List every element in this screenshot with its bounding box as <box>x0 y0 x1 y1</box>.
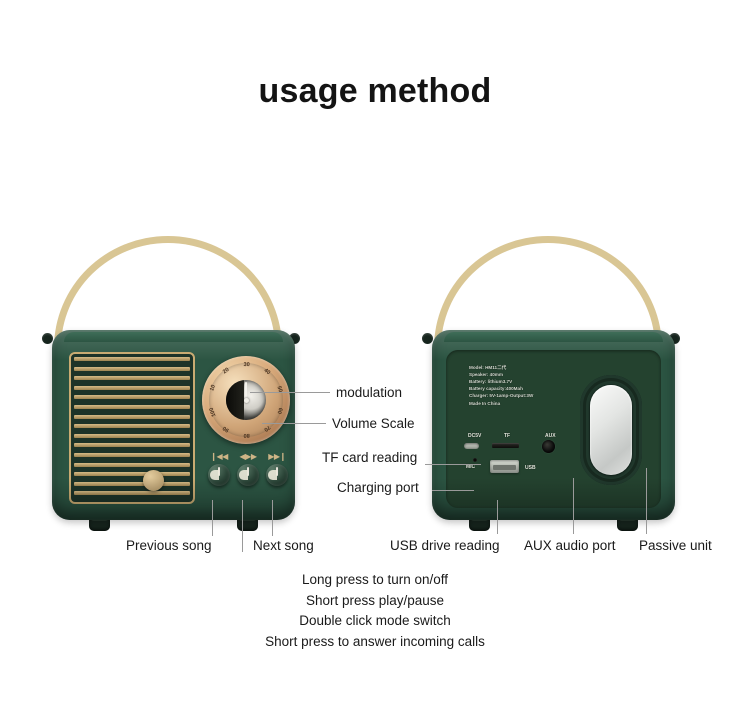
top-bevel <box>64 332 283 342</box>
page-title: usage method <box>0 72 750 111</box>
callout-tf-card-reading: TF card reading <box>322 450 417 465</box>
next-song-knob[interactable] <box>266 464 288 486</box>
play-pause-knob[interactable] <box>237 464 259 486</box>
callout-modulation: modulation <box>336 385 402 400</box>
dial-tick-70: 70 <box>263 424 272 433</box>
dial-center-cap <box>244 398 249 403</box>
lead-line-center-button <box>242 500 243 552</box>
dial-tick-100: 100 <box>209 407 218 418</box>
grille-slat <box>74 395 190 399</box>
grille-slat <box>74 367 190 371</box>
grille-slat <box>74 434 190 438</box>
grille-slat <box>74 443 190 447</box>
callout-next-song: Next song <box>253 538 314 553</box>
spec-line-capacity: Battery capacity:400Mah <box>469 385 533 392</box>
microphone-hole <box>473 458 477 462</box>
play-pause-mode-icon: ◀▶▶ <box>234 452 262 462</box>
top-bevel-back <box>444 332 663 342</box>
lead-line-usb-drive <box>497 500 498 534</box>
grille-slat <box>74 376 190 380</box>
grille-slat <box>74 405 190 409</box>
lead-line-volume-scale <box>262 423 326 424</box>
usb-label: USB <box>525 465 536 471</box>
spec-line-battery: Battery: lithium3.7V <box>469 378 533 385</box>
dial-tick-80: 80 <box>244 432 250 438</box>
grille-slat <box>74 463 190 467</box>
instructions-block: Long press to turn on/off Short press pl… <box>0 570 750 652</box>
speaker-body-back: Model: HM11二代 Speaker: 40mm Battery: lit… <box>432 330 675 520</box>
previous-track-icon: ❙◀◀ <box>205 452 233 462</box>
instruction-line-mode-switch: Double click mode switch <box>0 611 750 632</box>
grille-slats <box>74 357 190 499</box>
grille-slat <box>74 415 190 419</box>
spec-label: Model: HM11二代 Speaker: 40mm Battery: lit… <box>469 364 533 407</box>
grille-slat <box>74 472 190 476</box>
spec-line-origin: Made In China <box>469 400 533 407</box>
lead-line-tf-card <box>425 464 481 465</box>
tf-card-slot[interactable] <box>492 443 519 448</box>
lead-line-aux-audio <box>573 478 574 534</box>
grille-accent-knob <box>143 470 164 491</box>
grille-slat <box>74 357 190 361</box>
control-knob-group: ❙◀◀ ◀▶▶ ▶▶❙ <box>205 452 289 496</box>
speaker-body-front: 102030405060708090100 ❙◀◀ ◀▶▶ ▶▶❙ <box>52 330 295 520</box>
dial-tick-20: 20 <box>222 367 231 375</box>
back-panel: Model: HM11二代 Speaker: 40mm Battery: lit… <box>446 350 661 508</box>
lead-line-passive-unit <box>646 468 647 534</box>
callout-usb-drive-reading: USB drive reading <box>390 538 500 553</box>
usb-port[interactable] <box>490 460 519 473</box>
speaker-grille <box>69 352 195 504</box>
callout-charging-port: Charging port <box>337 480 419 495</box>
usage-method-infographic: usage method 102030405060708090100 <box>0 0 750 702</box>
lead-line-modulation <box>250 392 330 393</box>
aux-audio-port[interactable] <box>542 440 555 453</box>
grille-slat <box>74 424 190 428</box>
passive-radiator-diaphragm <box>590 385 632 475</box>
dial-tick-10: 10 <box>209 384 217 392</box>
dial-tick-30: 30 <box>244 362 250 368</box>
instruction-line-play-pause: Short press play/pause <box>0 591 750 612</box>
dial-tick-60: 60 <box>276 407 284 415</box>
lead-line-next-song <box>272 500 273 536</box>
previous-song-knob[interactable] <box>208 464 230 486</box>
front-view-product: 102030405060708090100 ❙◀◀ ◀▶▶ ▶▶❙ <box>40 235 310 535</box>
grille-slat <box>74 482 190 486</box>
passive-radiator <box>580 375 642 485</box>
next-track-icon: ▶▶❙ <box>263 452 291 462</box>
callout-passive-unit: Passive unit <box>639 538 712 553</box>
dc5v-label: DC5V <box>468 433 481 439</box>
callout-volume-scale: Volume Scale <box>332 416 415 431</box>
instruction-line-answer-call: Short press to answer incoming calls <box>0 632 750 653</box>
callout-aux-audio-port: AUX audio port <box>524 538 616 553</box>
spec-line-charger: Charger: 5V-1amp-Output:3W <box>469 392 533 399</box>
lead-line-charging-port <box>432 490 474 491</box>
grille-slat <box>74 491 190 495</box>
lead-line-previous-song <box>212 500 213 536</box>
instruction-line-power: Long press to turn on/off <box>0 570 750 591</box>
tuning-volume-dial[interactable]: 102030405060708090100 <box>202 356 290 444</box>
spec-line-model: Model: HM11二代 <box>469 364 533 371</box>
dial-tick-90: 90 <box>222 425 231 433</box>
aux-label: AUX <box>545 433 556 439</box>
grille-slat <box>74 453 190 457</box>
tf-label: TF <box>504 433 510 439</box>
grille-slat <box>74 386 190 390</box>
dial-tick-40: 40 <box>263 368 272 377</box>
callout-previous-song: Previous song <box>126 538 212 553</box>
spec-line-speaker: Speaker: 40mm <box>469 371 533 378</box>
dc5v-charging-port[interactable] <box>464 443 479 449</box>
